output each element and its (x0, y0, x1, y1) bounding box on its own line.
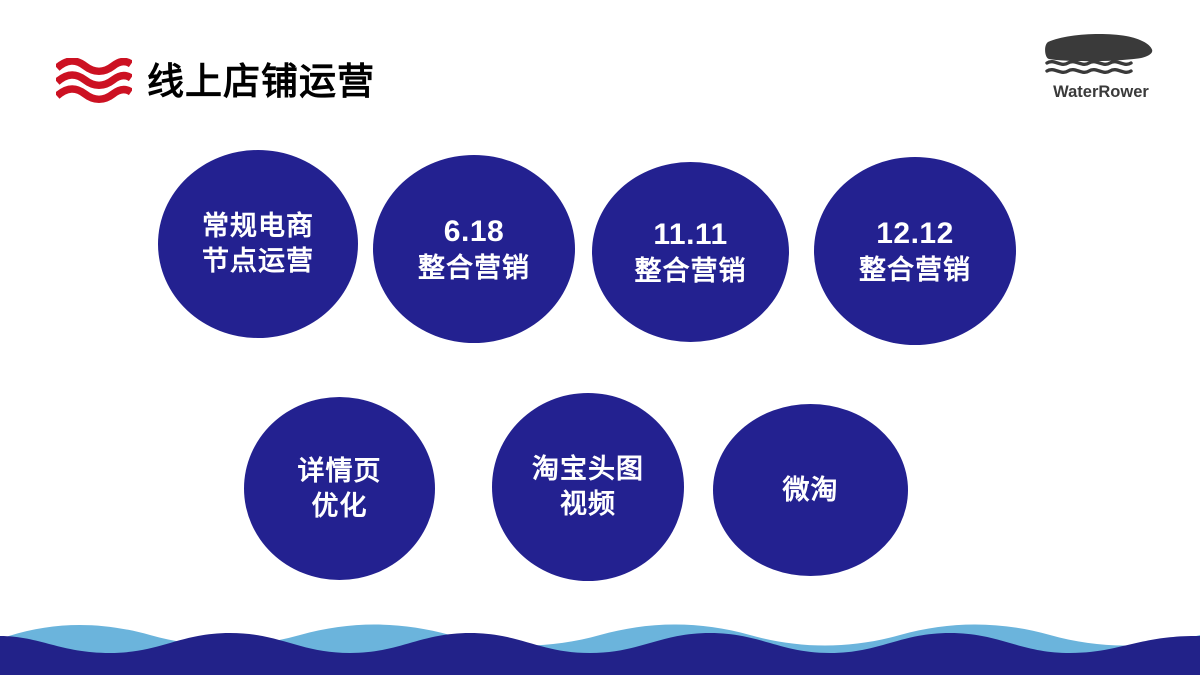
circle-1111[interactable]: 11.11 整合营销 (592, 162, 789, 342)
circle-line-1: 常规电商 (202, 209, 314, 244)
circle-line-2: 整合营销 (859, 253, 971, 288)
circle-line-1: 12.12 (876, 215, 954, 253)
slide-header: 线上店铺运营 WaterRower (0, 0, 1200, 130)
circle-line-1: 详情页 (298, 454, 382, 489)
circle-line-2: 整合营销 (418, 251, 530, 286)
circle-line-1: 6.18 (444, 213, 504, 251)
circle-1212[interactable]: 12.12 整合营销 (814, 157, 1016, 345)
circle-line-1: 微淘 (783, 473, 839, 508)
circle-weitao[interactable]: 微淘 (713, 404, 908, 576)
page-title: 线上店铺运营 (147, 58, 375, 106)
circle-taobao-banner-video[interactable]: 淘宝头图 视频 (492, 393, 684, 581)
circle-618[interactable]: 6.18 整合营销 (373, 155, 575, 343)
circle-line-1: 11.11 (653, 216, 727, 254)
circle-regular-ecommerce[interactable]: 常规电商 节点运营 (158, 150, 358, 338)
circle-line-2: 优化 (312, 489, 368, 524)
circle-line-2: 整合营销 (635, 254, 747, 289)
waterrower-boat-icon (1045, 34, 1152, 72)
circle-line-2: 视频 (560, 487, 616, 522)
circle-line-2: 节点运营 (202, 244, 314, 279)
red-wave-mark-icon (56, 58, 132, 106)
slide-canvas: 线上店铺运营 WaterRower 常规电商 节点运营 6.18 整合营销 11… (0, 0, 1200, 675)
circle-detail-page-optimization[interactable]: 详情页 优化 (244, 397, 435, 580)
brand-wordmark: WaterRower (1053, 83, 1149, 101)
circle-line-1: 淘宝头图 (532, 452, 644, 487)
brand-logo: WaterRower (1040, 28, 1162, 104)
wave-band-decoration (0, 605, 1200, 675)
